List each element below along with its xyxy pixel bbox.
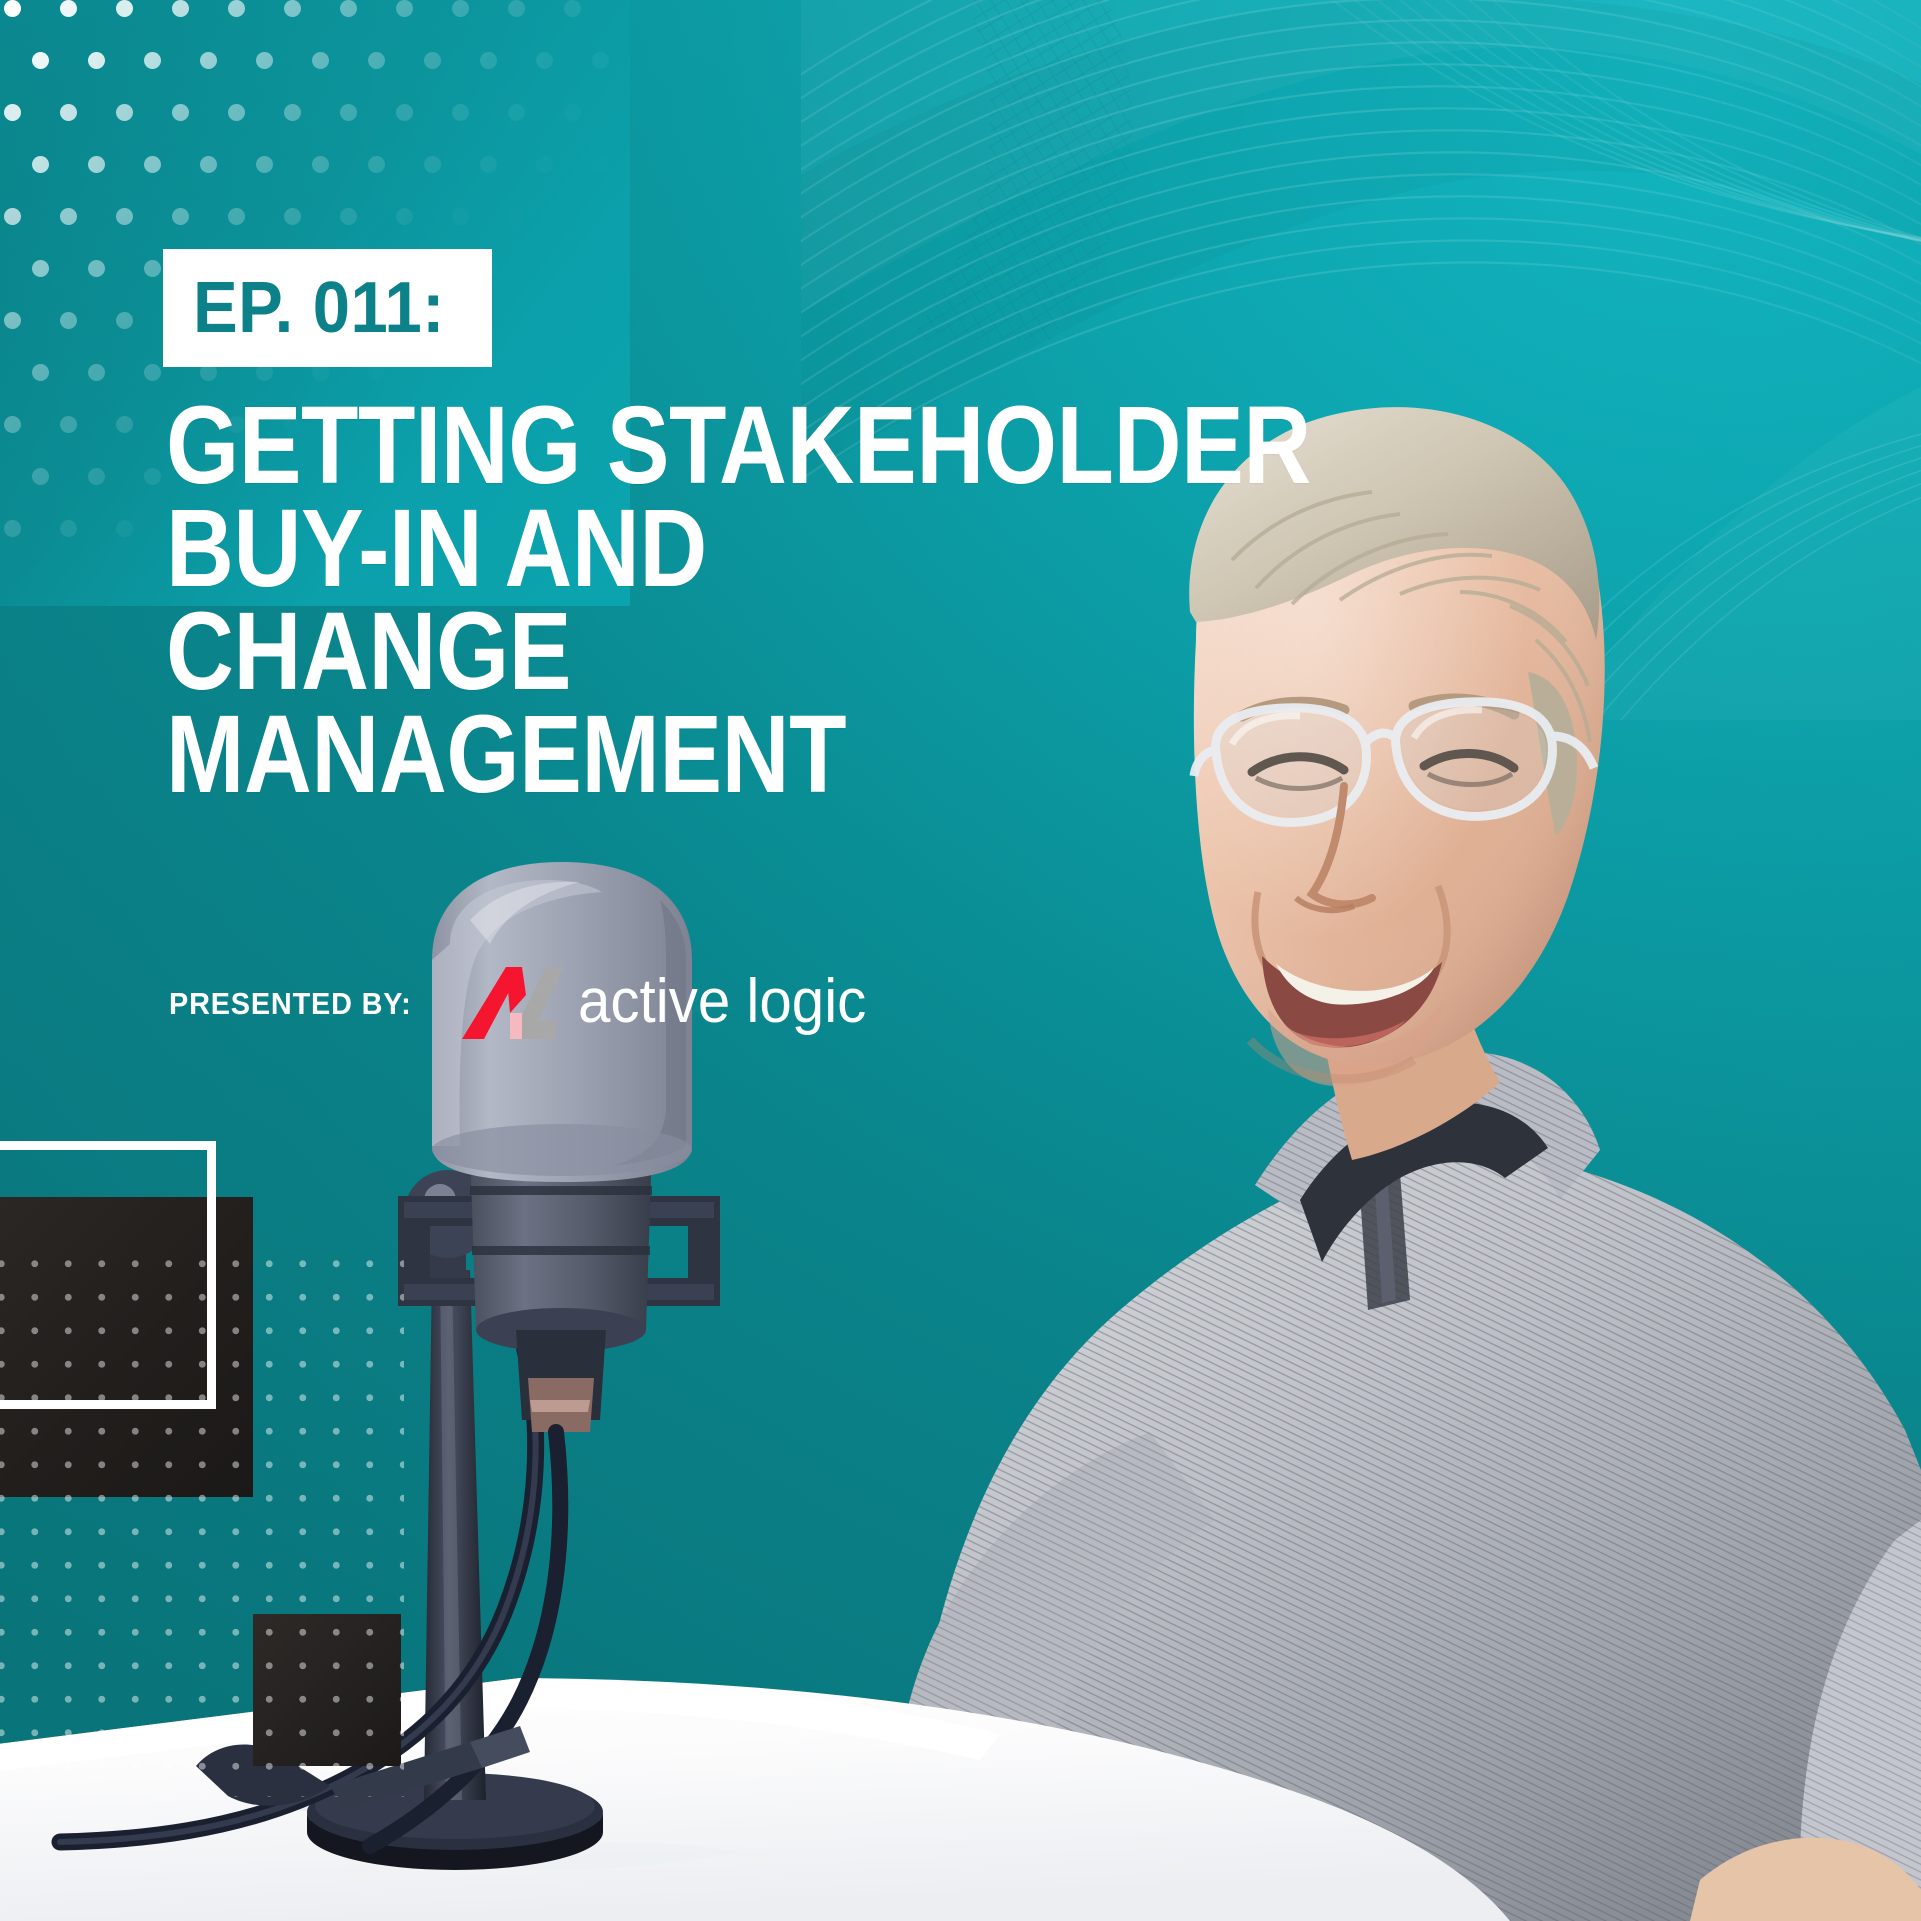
cover-copy: EP. 011: GETTING STAKEHOLDER BUY-IN AND … bbox=[0, 0, 1921, 1921]
episode-badge: EP. 011: bbox=[163, 249, 492, 367]
brand-wordmark: active logic bbox=[578, 971, 866, 1033]
presented-by-label: PRESENTED BY: bbox=[169, 986, 412, 1022]
title-line-2: BUY-IN AND bbox=[166, 498, 1637, 601]
title-line-3: CHANGE bbox=[166, 601, 1637, 704]
title-line-4: MANAGEMENT bbox=[166, 704, 1637, 807]
presented-by-row: PRESENTED BY: active logic bbox=[169, 965, 885, 1043]
active-logic-logo-icon bbox=[460, 965, 570, 1043]
episode-title: GETTING STAKEHOLDER BUY-IN AND CHANGE MA… bbox=[166, 395, 1886, 806]
title-line-1: GETTING STAKEHOLDER bbox=[166, 395, 1637, 498]
episode-number-label: EP. 011: bbox=[193, 272, 445, 344]
episode-cover: EP. 011: GETTING STAKEHOLDER BUY-IN AND … bbox=[0, 0, 1921, 1921]
